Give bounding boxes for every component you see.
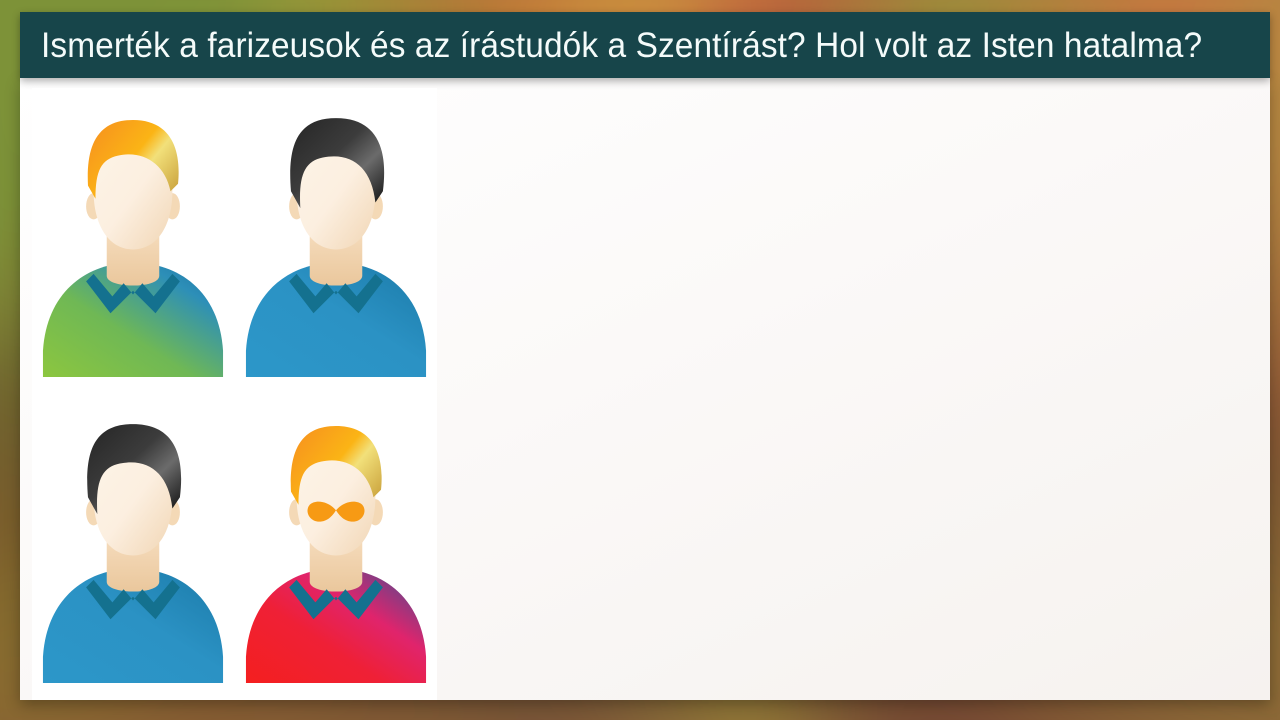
slide-title: Ismerték a farizeusok és az írástudók a … [20, 28, 1202, 63]
avatar-grid [32, 88, 437, 700]
slide-root: Ismerték a farizeusok és az írástudók a … [0, 0, 1280, 720]
avatar-top-right [235, 88, 438, 394]
slide-title-bar: Ismerték a farizeusok és az írástudók a … [20, 12, 1270, 78]
picture-placeholder-card[interactable] [32, 88, 437, 700]
avatar-bottom-right [235, 394, 438, 700]
avatar-top-left [32, 88, 235, 394]
avatar-bottom-left [32, 394, 235, 700]
